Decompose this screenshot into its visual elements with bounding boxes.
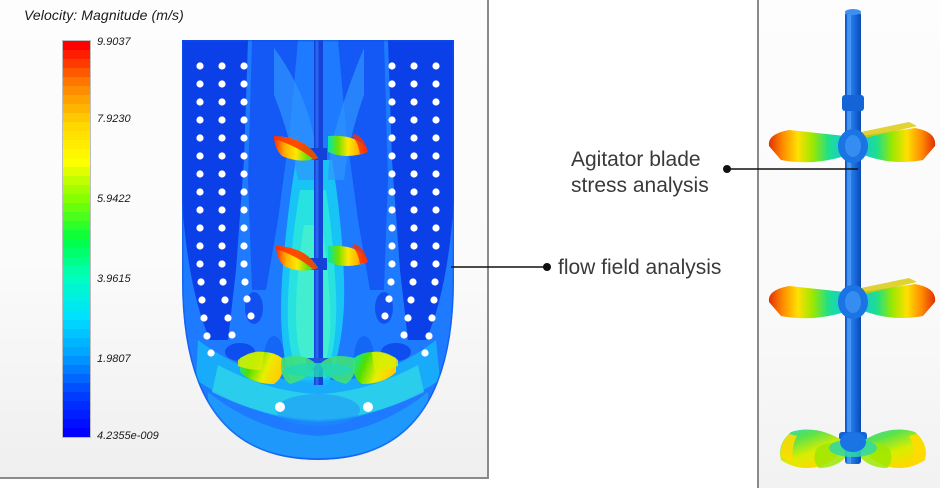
annotation-leader-lines — [0, 0, 940, 488]
annotation-agitator-line2: stress analysis — [571, 173, 709, 199]
annotation-flow-field: flow field analysis — [558, 255, 721, 281]
annotation-agitator-line1: Agitator blade — [571, 147, 709, 173]
agitator-leader-dot — [723, 165, 731, 173]
annotation-agitator-blade: Agitator blade stress analysis — [571, 147, 709, 199]
flow-leader-dot — [543, 263, 551, 271]
